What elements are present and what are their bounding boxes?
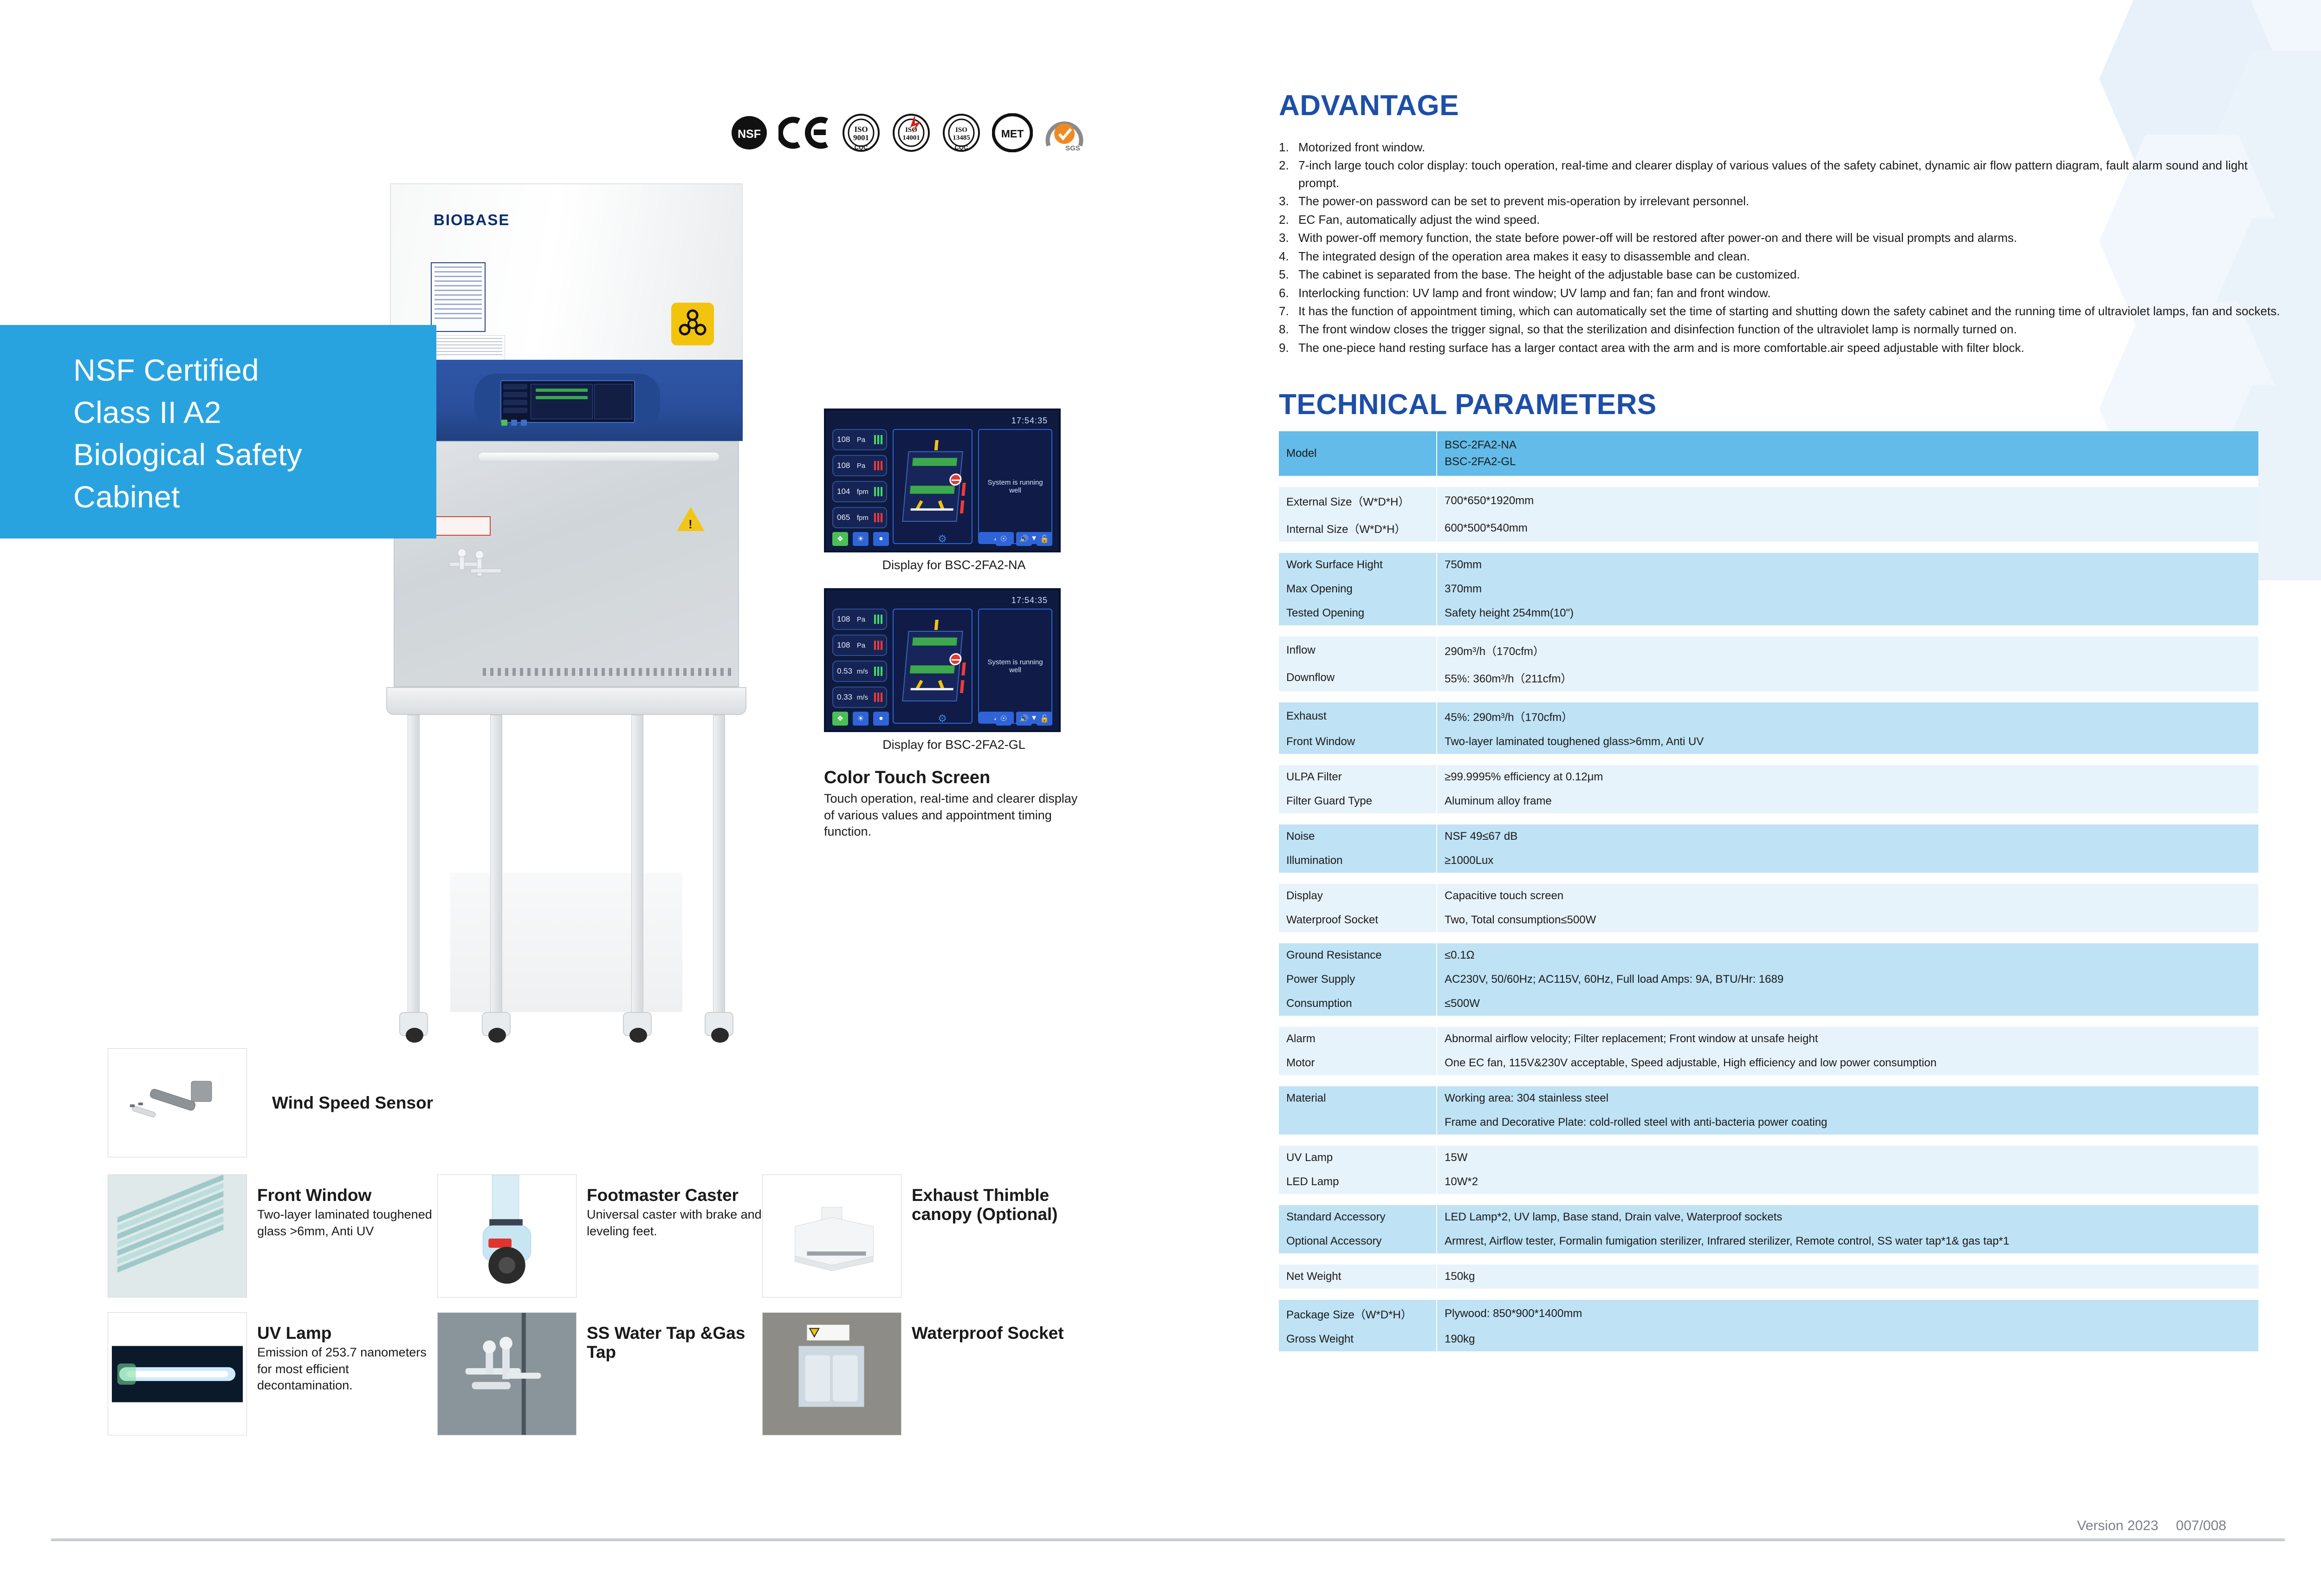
table-cell-key: Exhaust (1279, 702, 1437, 730)
table-row: Consumption≤500W (1279, 992, 2258, 1016)
svg-text:CQC: CQC (955, 144, 969, 151)
banner-line-1: NSF Certified (73, 349, 436, 391)
footmaster-caster (399, 1012, 428, 1036)
settings-gear-icon[interactable]: ⚙ (894, 533, 991, 545)
table-row: Frame and Decorative Plate: cold-rolled … (1279, 1110, 2258, 1135)
exhaust-thimble-photo (762, 1174, 901, 1298)
readout-row: 108 Pa (832, 635, 887, 656)
advantage-item-text: The power-on password can be set to prev… (1298, 193, 1749, 210)
table-cell-key: Gross Weight (1279, 1327, 1437, 1351)
advantage-item-number: 3. (1279, 229, 1294, 247)
feature-card-row: Front Window Two-layer laminated toughen… (108, 1174, 1096, 1298)
table-cell-key: Illumination (1279, 849, 1437, 873)
speaker-icon[interactable]: 🔊 (1016, 712, 1032, 726)
feature-card-exhaust-thimble: Exhaust Thimble canopy (Optional) (762, 1174, 1087, 1298)
table-group-gap (1279, 1194, 2258, 1205)
advantage-item: 2.EC Fan, automatically adjust the wind … (1279, 211, 2291, 228)
readout-value: 108 (837, 461, 854, 470)
table-cell-key: LED Lamp (1279, 1170, 1437, 1194)
warning-triangle-icon (677, 507, 705, 531)
table-cell-key: Inflow (1279, 636, 1437, 664)
table-row: Gross Weight190kg (1279, 1327, 2258, 1351)
cabinet-rating-label (431, 335, 505, 362)
table-row: Max Opening370mm (1279, 577, 2258, 601)
feature-card-front-window: Front Window Two-layer laminated toughen… (108, 1174, 437, 1298)
table-cell-key: Work Surface Hight (1279, 553, 1437, 577)
svg-text:ISO: ISO (955, 126, 967, 134)
table-cell-key (1279, 1110, 1437, 1135)
table-cell-key: Alarm (1279, 1027, 1437, 1051)
advantage-item: 2.7-inch large touch color display: touc… (1279, 157, 2291, 192)
table-cell-value: Capacitive touch screen (1437, 884, 2258, 908)
svg-text:NSF: NSF (738, 128, 761, 141)
advantage-item: 9.The one-piece hand resting surface has… (1279, 339, 2291, 357)
table-cell-value: NSF 49≤67 dB (1437, 824, 2258, 849)
biohazard-icon (671, 303, 714, 345)
cabinet-upper-body: BIOBASE (390, 183, 743, 360)
table-cell-value: 750mm (1437, 553, 2258, 577)
display-caption-na: Display for BSC-2FA2-NA (824, 558, 1084, 572)
panel-touch-display[interactable] (500, 380, 635, 423)
advantage-list: 1.Motorized front window.2.7-inch large … (1279, 139, 2291, 357)
uv-lamp-photo (108, 1312, 247, 1435)
table-row: AlarmAbnormal airflow velocity; Filter r… (1279, 1027, 2258, 1051)
table-group-gap (1279, 1075, 2258, 1086)
table-cell-key: Net Weight (1279, 1265, 1437, 1289)
table-cell-value: Armrest, Airflow tester, Formalin fumiga… (1437, 1229, 2258, 1253)
ce-icon (778, 111, 830, 154)
table-cell-value: Abnormal airflow velocity; Filter replac… (1437, 1027, 2258, 1051)
advantage-item-number: 2. (1279, 157, 1294, 192)
feature-title: Waterproof Socket (912, 1324, 1064, 1343)
svg-text:SGS: SGS (1065, 144, 1080, 152)
touchscreen-description: Touch operation, real-time and clearer d… (824, 791, 1084, 840)
wind-speed-sensor-label: Wind Speed Sensor (272, 1093, 433, 1113)
panel-bezel (474, 374, 660, 428)
uv-tube (478, 452, 720, 461)
advantage-item-text: It has the function of appointment timin… (1298, 303, 2280, 320)
product-image-cabinet: BIOBASE (367, 183, 761, 1079)
svg-text:MET: MET (1001, 128, 1024, 140)
fan-icon[interactable]: ❖ (832, 712, 848, 726)
table-cell-key: Standard Accessory (1279, 1205, 1437, 1229)
wind-speed-sensor-photo (108, 1048, 247, 1157)
feature-card-waterproof-socket: Waterproof Socket (762, 1312, 1087, 1435)
table-cell-value: 45%: 290m³/h（170cfm） (1437, 702, 2258, 730)
speaker-icon[interactable]: 🔊 (1016, 532, 1032, 546)
table-row: DisplayCapacitive touch screen (1279, 884, 2258, 908)
table-cell-key: Front Window (1279, 730, 1437, 754)
status-text: System is running well (982, 479, 1049, 494)
table-row: LED Lamp10W*2 (1279, 1170, 2258, 1194)
display-screen-na[interactable]: 17:54:35 108 Pa 108 Pa 104 fpm (824, 409, 1061, 552)
advantage-item-number: 9. (1279, 339, 1294, 357)
table-cell-value: AC230V, 50/60Hz; AC115V, 60Hz, Full load… (1437, 967, 2258, 992)
cabinet-front-tray (386, 687, 746, 715)
advantage-item: 3.The power-on password can be set to pr… (1279, 193, 2291, 210)
screen-status-message: System is running well ▲ ▼ (978, 609, 1052, 724)
biobase-logo: BIOBASE (434, 211, 510, 229)
table-cell-value: 150kg (1437, 1265, 2258, 1289)
screen-clock: 17:54:35 (1011, 596, 1048, 605)
feature-title: Footmaster Caster (587, 1186, 762, 1205)
readout-value: 0.53 (837, 667, 854, 676)
fan-icon[interactable]: ❖ (832, 532, 848, 546)
table-cell-key: Filter Guard Type (1279, 789, 1437, 813)
feature-card-water-gas-tap: SS Water Tap &Gas Tap (437, 1312, 762, 1435)
table-cell-value: Aluminum alloy frame (1437, 789, 2258, 813)
readout-row: 108 Pa (832, 609, 887, 630)
table-row: Package Size（W*D*H）Plywood: 850*900*1400… (1279, 1300, 2258, 1327)
screen-readouts: 108 Pa 108 Pa 104 fpm 0 (832, 429, 887, 544)
table-cell-value: 55%: 360m³/h（211cfm） (1437, 664, 2258, 691)
lock-icon[interactable]: 🔓 (1037, 712, 1052, 726)
iso-13485-icon: ISO13485CQC (942, 111, 981, 154)
wind-speed-sensor-card: Wind Speed Sensor (108, 1048, 433, 1157)
table-row: Front WindowTwo-layer laminated toughene… (1279, 730, 2258, 754)
table-row: Illumination≥1000Lux (1279, 849, 2258, 873)
feature-description: Two-layer laminated toughened glass >6mm… (257, 1207, 437, 1239)
advantage-item: 7.It has the function of appointment tim… (1279, 303, 2291, 320)
stand-shelf (450, 873, 682, 1012)
table-group-gap (1279, 542, 2258, 553)
readout-row: 0.53 m/s (832, 661, 887, 682)
sgs-icon: SGS (1044, 111, 1085, 154)
table-cell-value: One EC fan, 115V&230V acceptable, Speed … (1437, 1051, 2258, 1075)
advantage-item: 8.The front window closes the trigger si… (1279, 321, 2291, 338)
table-group-gap (1279, 813, 2258, 824)
table-group-gap (1279, 754, 2258, 765)
cabinet-spec-label (431, 262, 486, 332)
display-caption-gl: Display for BSC-2FA2-GL (824, 738, 1084, 752)
product-title-banner: NSF Certified Class II A2 Biological Saf… (0, 325, 436, 538)
table-group-gap (1279, 873, 2258, 884)
readout-row: 0.33 m/s (832, 687, 887, 708)
technical-parameters-table: ModelBSC-2FA2-NABSC-2FA2-GLExternal Size… (1279, 431, 2258, 1351)
table-cell-value: 10W*2 (1437, 1170, 2258, 1194)
table-row: External Size（W*D*H）700*650*1920mm (1279, 487, 2258, 514)
advantage-item-text: EC Fan, automatically adjust the wind sp… (1298, 211, 1540, 228)
table-group-gap (1279, 1289, 2258, 1300)
feature-title: Exhaust Thimble canopy (Optional) (912, 1186, 1087, 1224)
table-row: Filter Guard TypeAluminum alloy frame (1279, 789, 2258, 813)
readout-value: 108 (837, 615, 854, 624)
feature-cards: Front Window Two-layer laminated toughen… (108, 1174, 1096, 1450)
table-group-gap (1279, 691, 2258, 702)
readout-unit: Pa (857, 436, 871, 444)
readout-value: 108 (837, 641, 854, 650)
footmaster-caster (623, 1012, 652, 1036)
table-cell-key: Package Size（W*D*H） (1279, 1300, 1437, 1327)
table-row: Exhaust45%: 290m³/h（170cfm） (1279, 702, 2258, 730)
table-group-gap (1279, 932, 2258, 943)
table-group-gap (1279, 625, 2258, 636)
table-cell-key: Consumption (1279, 992, 1437, 1016)
table-cell-value: Plywood: 850*900*1400mm (1437, 1300, 2258, 1327)
feature-title: Front Window (257, 1186, 437, 1205)
table-row: ULPA Filter≥99.9995% efficiency at 0.12μ… (1279, 765, 2258, 789)
table-cell-value: Two-layer laminated toughened glass>6mm,… (1437, 730, 2258, 754)
advantage-item: 3.With power-off memory function, the st… (1279, 229, 2291, 247)
readout-row: 108 Pa (832, 455, 887, 476)
feature-card-uv-lamp: UV Lamp Emission of 253.7 nanometers for… (108, 1312, 437, 1435)
footmaster-caster (705, 1012, 733, 1036)
advantage-item: 4.The integrated design of the operation… (1279, 248, 2291, 265)
readout-unit: fpm (857, 514, 871, 522)
caster-photo (437, 1174, 577, 1298)
table-cell-key: Tested Opening (1279, 601, 1437, 625)
advantage-item-text: The front window closes the trigger sign… (1298, 321, 2017, 338)
table-row: NoiseNSF 49≤67 dB (1279, 824, 2258, 849)
lock-icon[interactable]: 🔓 (1037, 532, 1052, 546)
footer-version: Version 2023 (2077, 1518, 2158, 1534)
banner-line-3: Biological Safety (73, 434, 436, 476)
led-lamp-icon[interactable]: ● (873, 532, 889, 546)
uv-lamp-icon[interactable]: ☀ (853, 532, 869, 546)
display-screen-gl[interactable]: 17:54:35 108 Pa 108 Pa 0.53 m/s (824, 588, 1061, 732)
table-cell-key: Optional Accessory (1279, 1229, 1437, 1253)
iso-9001-icon: ISO9001CQC (842, 111, 881, 154)
uv-lamp-icon[interactable]: ☀ (853, 712, 869, 726)
advantage-item-number: 3. (1279, 193, 1294, 210)
status-text: System is running well (982, 658, 1049, 674)
svg-text:9001: 9001 (853, 133, 869, 142)
table-group-gap (1279, 1135, 2258, 1146)
table-group-gap (1279, 1253, 2258, 1265)
table-cell-key: Display (1279, 884, 1437, 908)
table-cell-key: Material (1279, 1086, 1437, 1110)
table-row: Net Weight150kg (1279, 1265, 2258, 1289)
socket-icon[interactable]: ☉ (996, 532, 1011, 546)
touchscreen-title: Color Touch Screen (824, 768, 1084, 788)
cabinet-front-window (394, 441, 739, 687)
advantage-item-number: 8. (1279, 321, 1294, 338)
table-row: Internal Size（W*D*H）600*500*540mm (1279, 514, 2258, 542)
table-row: Optional AccessoryArmrest, Airflow teste… (1279, 1229, 2258, 1253)
model-name: BSC-2FA2-GL (1445, 454, 2251, 470)
table-cell-key: UV Lamp (1279, 1146, 1437, 1170)
table-cell-value: Safety height 254mm(10") (1437, 601, 2258, 625)
led-lamp-icon[interactable]: ● (873, 712, 889, 726)
socket-icon[interactable]: ☉ (996, 712, 1011, 726)
readout-value: 065 (837, 513, 854, 522)
cabinet-control-panel[interactable] (390, 360, 743, 441)
advantage-item: 5.The cabinet is separated from the base… (1279, 266, 2291, 283)
table-cell-value: 290m³/h（170cfm） (1437, 636, 2258, 664)
advantage-item-number: 2. (1279, 211, 1294, 228)
table-row: Standard AccessoryLED Lamp*2, UV lamp, B… (1279, 1205, 2258, 1229)
advantage-item-number: 6. (1279, 285, 1294, 302)
left-column: NSF ISO9001CQC ISO14001 ISO13485CQC MET … (0, 0, 1142, 1596)
feature-title: SS Water Tap &Gas Tap (587, 1324, 762, 1362)
airflow-diagram (893, 609, 972, 724)
readout-row: 065 fpm (832, 507, 887, 528)
no-entry-icon (949, 653, 962, 665)
table-cell-value: ≤0.1Ω (1437, 943, 2258, 967)
readout-row: 108 Pa (832, 429, 887, 450)
table-cell-key: Motor (1279, 1051, 1437, 1075)
readout-unit: Pa (857, 462, 871, 470)
advantage-heading: ADVANTAGE (1279, 89, 2291, 122)
advantage-item-text: Interlocking function: UV lamp and front… (1298, 285, 1770, 302)
table-cell-value: ≥99.9995% efficiency at 0.12μm (1437, 765, 2258, 789)
feature-title: UV Lamp (257, 1324, 437, 1343)
advantage-item-number: 1. (1279, 139, 1294, 156)
readout-value: 0.33 (837, 693, 854, 702)
screen-taskbar[interactable]: ❖ ☀ ● ⚙ ☉ 🔊 🔓 (832, 532, 1052, 546)
air-vent-grille (483, 668, 731, 676)
certification-badges: NSF ISO9001CQC ISO14001 ISO13485CQC MET … (731, 111, 1085, 154)
water-gas-tap-photo (437, 1312, 577, 1435)
advantage-item-text: The one-piece hand resting surface has a… (1298, 339, 2024, 357)
banner-line-4: Cabinet (73, 476, 436, 518)
footmaster-caster (482, 1012, 511, 1036)
svg-text:13485: 13485 (953, 134, 970, 142)
readout-unit: fpm (857, 488, 871, 496)
nsf-icon: NSF (731, 111, 767, 154)
panel-buttons[interactable] (501, 420, 527, 426)
settings-gear-icon[interactable]: ⚙ (894, 713, 991, 725)
model-name: BSC-2FA2-NA (1445, 437, 2251, 454)
table-cell-value: 600*500*540mm (1437, 514, 2258, 542)
feature-card-row: UV Lamp Emission of 253.7 nanometers for… (108, 1312, 1096, 1435)
table-header-key: Model (1279, 431, 1437, 476)
advantage-item: 6.Interlocking function: UV lamp and fro… (1279, 285, 2291, 302)
svg-text:ISO: ISO (854, 125, 868, 134)
technical-parameters-heading: TECHNICAL PARAMETERS (1279, 388, 2291, 421)
table-cell-key: Waterproof Socket (1279, 908, 1437, 932)
table-row: Work Surface Hight750mm (1279, 553, 2258, 577)
advantage-item-text: The integrated design of the operation a… (1298, 248, 1750, 265)
table-cell-value: ≥1000Lux (1437, 849, 2258, 873)
cabinet-base-stand (399, 715, 733, 1068)
readout-unit: m/s (857, 694, 871, 701)
readout-row: 104 fpm (832, 481, 887, 502)
table-row: ModelBSC-2FA2-NABSC-2FA2-GL (1279, 431, 2258, 476)
table-cell-key: Internal Size（W*D*H） (1279, 514, 1437, 542)
table-cell-value: Two, Total consumption≤500W (1437, 908, 2258, 932)
table-cell-key: External Size（W*D*H） (1279, 487, 1437, 514)
table-cell-key: Max Opening (1279, 577, 1437, 601)
table-group-gap (1279, 1016, 2258, 1027)
feature-description: Universal caster with brake and leveling… (587, 1207, 762, 1239)
advantage-item-text: 7-inch large touch color display: touch … (1298, 157, 2291, 192)
table-cell-value: ≤500W (1437, 992, 2258, 1016)
svg-text:14001: 14001 (902, 134, 920, 142)
table-row: MaterialWorking area: 304 stainless stee… (1279, 1086, 2258, 1110)
table-cell-key: Power Supply (1279, 967, 1437, 992)
readout-unit: Pa (857, 616, 871, 623)
no-entry-icon (949, 474, 962, 486)
readout-value: 108 (837, 435, 854, 444)
footer-page-number: 007/008 (2176, 1518, 2226, 1534)
table-header-models: BSC-2FA2-NABSC-2FA2-GL (1437, 431, 2258, 476)
right-column: ADVANTAGE 1.Motorized front window.2.7-i… (1279, 0, 2291, 1351)
screen-readouts: 108 Pa 108 Pa 0.53 m/s (832, 609, 887, 724)
readout-unit: m/s (857, 668, 871, 675)
laminated-glass-photo (108, 1174, 247, 1298)
table-cell-value: 190kg (1437, 1327, 2258, 1351)
table-cell-value: Working area: 304 stainless steel (1437, 1086, 2258, 1110)
screen-clock: 17:54:35 (1011, 416, 1048, 426)
banner-line-2: Class II A2 (73, 391, 436, 434)
feature-description: Emission of 253.7 nanometers for most ef… (257, 1344, 437, 1393)
table-row: Waterproof SocketTwo, Total consumption≤… (1279, 908, 2258, 932)
touchscreen-callouts: 17:54:35 108 Pa 108 Pa 104 fpm (824, 409, 1084, 840)
advantage-item-text: With power-off memory function, the stat… (1298, 229, 2017, 247)
table-cell-key: Noise (1279, 824, 1437, 849)
table-row: Tested OpeningSafety height 254mm(10") (1279, 601, 2258, 625)
airflow-diagram (893, 429, 972, 544)
readout-value: 104 (837, 487, 854, 496)
table-cell-value: Frame and Decorative Plate: cold-rolled … (1437, 1110, 2258, 1135)
table-row: Power SupplyAC230V, 50/60Hz; AC115V, 60H… (1279, 967, 2258, 992)
waterproof-socket-photo (762, 1312, 901, 1435)
advantage-item-number: 5. (1279, 266, 1294, 283)
met-icon: MET (992, 111, 1033, 154)
table-group-gap (1279, 476, 2258, 487)
table-row: Downflow55%: 360m³/h（211cfm） (1279, 664, 2258, 691)
advantage-item-text: Motorized front window. (1298, 139, 1425, 156)
svg-text:CQC: CQC (855, 144, 869, 151)
table-cell-key: Downflow (1279, 664, 1437, 691)
advantage-item-number: 7. (1279, 303, 1294, 320)
advantage-item-number: 4. (1279, 248, 1294, 265)
table-row: MotorOne EC fan, 115V&230V acceptable, S… (1279, 1051, 2258, 1075)
advantage-item-text: The cabinet is separated from the base. … (1298, 266, 1800, 283)
table-cell-value: 15W (1437, 1146, 2258, 1170)
feature-card-footmaster-caster: Footmaster Caster Universal caster with … (437, 1174, 762, 1298)
table-row: UV Lamp15W (1279, 1146, 2258, 1170)
table-cell-value: LED Lamp*2, UV lamp, Base stand, Drain v… (1437, 1205, 2258, 1229)
table-cell-key: Ground Resistance (1279, 943, 1437, 967)
advantage-item: 1.Motorized front window. (1279, 139, 2291, 156)
table-cell-value: 700*650*1920mm (1437, 487, 2258, 514)
table-row: Inflow290m³/h（170cfm） (1279, 636, 2258, 664)
water-gas-taps (441, 546, 520, 588)
screen-status-message: System is running well ▲ ▼ (978, 429, 1052, 544)
table-cell-value: 370mm (1437, 577, 2258, 601)
table-row: Ground Resistance≤0.1Ω (1279, 943, 2258, 967)
screen-taskbar[interactable]: ❖ ☀ ● ⚙ ☉ 🔊 🔓 (832, 712, 1052, 726)
readout-unit: Pa (857, 642, 871, 649)
table-cell-key: ULPA Filter (1279, 765, 1437, 789)
iso-14001-icon: ISO14001 (892, 111, 931, 154)
